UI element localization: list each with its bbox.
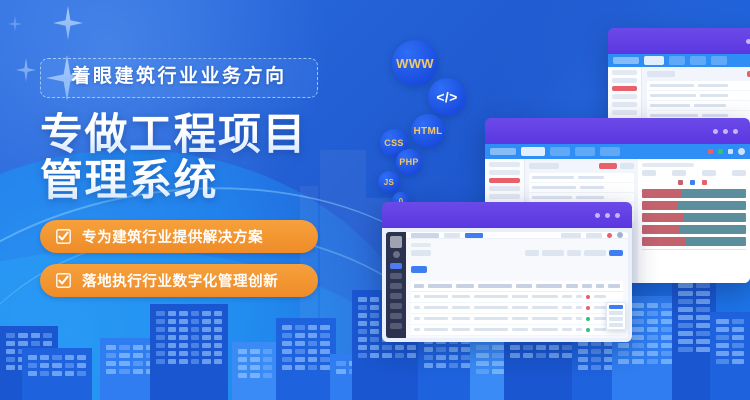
table-row[interactable] <box>411 325 623 336</box>
building-window-grid <box>710 312 750 400</box>
sidebar-item[interactable] <box>612 110 637 115</box>
building-window <box>661 303 672 308</box>
building-window <box>461 347 470 352</box>
building-window <box>156 335 165 340</box>
building-window <box>632 351 643 356</box>
topbar-tab[interactable] <box>669 56 685 65</box>
building-window <box>476 345 489 350</box>
building-window <box>678 283 693 288</box>
sidebar-item-active[interactable] <box>612 86 637 91</box>
building-window <box>578 349 588 354</box>
legend-item <box>678 180 685 185</box>
filter-chip[interactable] <box>542 250 564 256</box>
building-window <box>156 311 165 316</box>
app-logo-icon <box>613 57 639 64</box>
building-window <box>382 345 391 350</box>
building-window <box>716 327 729 332</box>
building-window <box>156 359 165 364</box>
building-window <box>661 359 672 364</box>
building-window <box>591 349 601 354</box>
building-window <box>358 337 367 342</box>
table-row[interactable] <box>647 101 750 111</box>
building-window <box>678 291 693 296</box>
breadcrumb <box>411 233 439 238</box>
building-window <box>6 357 15 362</box>
building-window <box>263 349 272 354</box>
filter-chip[interactable] <box>529 163 559 169</box>
building-window <box>133 369 143 374</box>
building-window <box>31 341 40 346</box>
chart-bar <box>642 201 747 210</box>
building-window <box>40 371 49 376</box>
chart-legend <box>642 180 747 185</box>
window-dot-icon <box>605 213 610 218</box>
building-window <box>308 333 318 338</box>
building-window <box>295 349 305 354</box>
legend-item <box>690 180 697 185</box>
table-row[interactable] <box>529 183 634 193</box>
sidebar-item[interactable] <box>390 273 402 279</box>
www-bubble: WWW <box>392 40 438 86</box>
building-window <box>202 327 211 332</box>
building-window <box>320 365 330 370</box>
checkbox-check-icon <box>56 229 71 244</box>
feature-pill-2[interactable]: 落地执行行业数字化管理创新 <box>40 264 318 297</box>
building-window <box>618 343 629 348</box>
building-window <box>106 345 116 350</box>
building-window <box>424 363 433 368</box>
feature-pill-1[interactable]: 专为建筑行业提供解决方案 <box>40 220 318 253</box>
building-window <box>77 371 86 376</box>
building-window <box>647 319 658 324</box>
secondary-action-button[interactable] <box>620 163 634 169</box>
www-bubble-label: WWW <box>396 56 434 71</box>
building-window <box>65 355 74 360</box>
sidebar-item[interactable] <box>390 283 402 289</box>
window-titlebar <box>485 118 750 144</box>
building-window <box>510 353 520 358</box>
stacked-bar-chart <box>642 189 747 250</box>
building-window <box>77 363 86 368</box>
page-subtitle <box>411 243 431 247</box>
window-dot-icon <box>723 129 728 134</box>
building-window <box>191 343 200 348</box>
building-window <box>168 351 177 356</box>
building-window <box>358 345 367 350</box>
status-badge <box>586 328 590 332</box>
app-topbar <box>608 54 750 67</box>
building-window <box>168 319 177 324</box>
building-window <box>282 349 292 354</box>
sidebar-item[interactable] <box>390 303 402 309</box>
nav-tab[interactable] <box>586 233 602 238</box>
building-window <box>238 373 247 378</box>
building-window <box>370 345 379 350</box>
building-window <box>358 305 367 310</box>
building-window <box>449 355 458 360</box>
filter-row <box>647 71 750 77</box>
feature-pill-label: 落地执行行业数字化管理创新 <box>82 270 278 291</box>
html-bubble: HTML <box>411 114 445 148</box>
window-titlebar <box>382 202 632 228</box>
building-window <box>320 325 330 330</box>
building-window <box>77 355 86 360</box>
building-window <box>179 351 188 356</box>
window-dot-icon <box>595 213 600 218</box>
building-window <box>661 319 672 324</box>
building-window <box>632 359 643 364</box>
stat-chip <box>642 170 656 176</box>
app-sidebar-dark <box>386 232 406 338</box>
building-window <box>214 351 223 356</box>
building-window <box>678 339 693 344</box>
filter-chip[interactable] <box>567 250 581 256</box>
building-window <box>492 369 505 374</box>
building-window <box>436 355 445 360</box>
building-window <box>395 345 404 350</box>
building-window <box>358 353 367 358</box>
building-window <box>179 343 188 348</box>
building-window <box>119 345 129 350</box>
building-window <box>156 343 165 348</box>
building-window <box>578 365 588 370</box>
building-window <box>202 335 211 340</box>
building-window <box>320 341 330 346</box>
table-row[interactable] <box>647 91 750 101</box>
building-window <box>476 361 489 366</box>
building-window <box>295 325 305 330</box>
building-window <box>436 363 445 368</box>
topbar-tab[interactable] <box>644 56 664 65</box>
building-window <box>370 305 379 310</box>
headline-block: 着眼建筑行业业务方向 专做工程项目 管理系统 专为建筑行业提供解决方案 <box>40 58 340 297</box>
building-window <box>263 373 272 378</box>
add-button[interactable] <box>411 266 427 273</box>
app-stage <box>386 232 628 338</box>
notification-icon[interactable] <box>708 149 713 154</box>
building-window <box>156 351 165 356</box>
chart-axis <box>642 249 747 250</box>
building-window <box>562 345 572 350</box>
building-window <box>476 369 489 374</box>
sidebar-item[interactable] <box>612 70 637 75</box>
avatar[interactable] <box>617 232 623 238</box>
building-window <box>358 329 367 334</box>
php-bubble-label: PHP <box>399 157 418 167</box>
building-window <box>696 283 711 288</box>
sidebar-item[interactable] <box>390 323 402 329</box>
building-window <box>591 365 601 370</box>
checkbox-check-icon <box>56 273 71 288</box>
building-window <box>358 297 367 302</box>
code-bubble-label: </> <box>436 89 457 105</box>
building-window <box>661 311 672 316</box>
building-window <box>696 315 711 320</box>
building-window <box>716 359 729 364</box>
search-button[interactable] <box>609 250 623 256</box>
window-body <box>382 228 632 342</box>
building-window <box>156 319 165 324</box>
building-window <box>732 343 745 348</box>
chart-bar <box>642 237 747 246</box>
building-window <box>191 335 200 340</box>
building-window <box>661 327 672 332</box>
building-window <box>295 365 305 370</box>
table-row[interactable] <box>411 303 623 314</box>
building-window <box>407 345 416 350</box>
building-window <box>696 307 711 312</box>
building-window <box>732 335 745 340</box>
building-window <box>238 357 247 362</box>
building-window <box>732 319 745 324</box>
sidebar-item-active[interactable] <box>390 263 402 269</box>
filter-row <box>411 250 623 256</box>
building-window <box>549 353 559 358</box>
building <box>232 342 278 400</box>
context-menu-item[interactable] <box>609 305 623 309</box>
building-window <box>295 333 305 338</box>
building-window <box>370 329 379 334</box>
building-window <box>28 355 37 360</box>
building-window <box>308 341 318 346</box>
building <box>710 312 750 400</box>
building-window <box>336 369 346 374</box>
building-window <box>370 337 379 342</box>
app-logo-icon <box>390 236 402 248</box>
building-window <box>295 357 305 362</box>
building-window <box>18 333 27 338</box>
table-header <box>411 281 623 292</box>
filter-row <box>529 163 634 169</box>
building-window <box>647 359 658 364</box>
building-window <box>632 327 643 332</box>
feature-pill-list: 专为建筑行业提供解决方案 落地执行行业数字化管理创新 <box>40 220 340 297</box>
building-window <box>6 349 15 354</box>
building-window <box>119 369 129 374</box>
building-window <box>678 307 693 312</box>
building-window <box>282 325 292 330</box>
data-table <box>411 281 623 336</box>
building-window-grid <box>150 304 228 400</box>
building-window <box>28 363 37 368</box>
building-window <box>320 333 330 338</box>
building-window <box>632 311 643 316</box>
topbar-tab[interactable] <box>690 56 706 65</box>
php-bubble: PHP <box>396 149 422 175</box>
topbar-tab[interactable] <box>575 147 595 156</box>
sparkle-icon-1 <box>53 6 83 40</box>
context-menu-item[interactable] <box>609 317 623 321</box>
building-window <box>202 351 211 356</box>
building-window <box>716 335 729 340</box>
building-window <box>119 353 129 358</box>
building-window-grid <box>22 348 92 400</box>
context-menu[interactable] <box>606 302 626 330</box>
building-window <box>461 363 470 368</box>
window-dot-icon <box>615 213 620 218</box>
status-badge <box>586 317 590 321</box>
building-window <box>52 355 61 360</box>
building-window <box>179 311 188 316</box>
js-bubble: JS <box>378 171 400 193</box>
building-window <box>168 327 177 332</box>
building-window <box>18 341 27 346</box>
building-window <box>282 333 292 338</box>
panel-title <box>642 163 694 167</box>
tech-bubble-cluster: WWW </> HTML CSS PHP JS 0 <box>378 36 508 216</box>
building-window <box>647 311 658 316</box>
building-window <box>370 297 379 302</box>
building-window <box>65 371 74 376</box>
eyebrow-badge: 着眼建筑行业业务方向 <box>40 58 318 98</box>
settings-icon[interactable] <box>728 149 733 154</box>
primary-action-button[interactable] <box>599 163 617 169</box>
sidebar-item[interactable] <box>612 78 637 83</box>
code-bubble: </> <box>428 78 466 116</box>
building-window <box>407 353 416 358</box>
promo-banner: 着眼建筑行业业务方向 专做工程项目 管理系统 专为建筑行业提供解决方案 <box>0 0 750 400</box>
building-window <box>52 363 61 368</box>
building-window <box>179 319 188 324</box>
building-window <box>168 335 177 340</box>
sparkle-icon-3 <box>16 58 36 82</box>
nav-tab[interactable] <box>561 233 581 238</box>
building-window <box>156 327 165 332</box>
table-row[interactable] <box>647 81 750 91</box>
building-window <box>678 331 693 336</box>
sidebar-item[interactable] <box>612 102 637 107</box>
collapse-icon[interactable] <box>393 251 400 258</box>
js-bubble-label: JS <box>384 178 394 187</box>
building-window <box>696 291 711 296</box>
building-window-grid <box>276 318 336 400</box>
feature-pill-label: 专为建筑行业提供解决方案 <box>82 226 263 247</box>
dashboard-window-front[interactable] <box>382 202 632 342</box>
building-window <box>647 335 658 340</box>
building-window <box>536 345 546 350</box>
building-window <box>65 363 74 368</box>
window-dot-icon <box>733 129 738 134</box>
sidebar-item[interactable] <box>390 313 402 319</box>
building-window <box>549 345 559 350</box>
avatar[interactable] <box>738 148 745 155</box>
filter-chip[interactable] <box>411 250 431 256</box>
topbar-tab[interactable] <box>521 147 545 156</box>
building-window <box>696 323 711 328</box>
status-badge <box>586 295 590 299</box>
building-window <box>250 357 259 362</box>
building-window <box>106 369 116 374</box>
building-window <box>461 355 470 360</box>
nav-tab-active[interactable] <box>465 233 483 238</box>
table-row[interactable] <box>529 173 634 183</box>
building-window <box>214 327 223 332</box>
building-window <box>320 357 330 362</box>
building-window <box>308 349 318 354</box>
building-window <box>308 357 318 362</box>
context-menu-item[interactable] <box>609 311 623 315</box>
building-window <box>358 313 367 318</box>
building-window <box>133 345 143 350</box>
building-window <box>436 347 445 352</box>
window-dot-icon <box>746 39 750 44</box>
building-window <box>578 357 588 362</box>
table-row[interactable] <box>411 292 623 303</box>
sidebar-item[interactable] <box>612 94 637 99</box>
topbar-tab[interactable] <box>550 147 570 156</box>
building-window <box>424 347 433 352</box>
message-icon[interactable] <box>718 149 723 154</box>
building-window <box>250 349 259 354</box>
building-window <box>238 349 247 354</box>
building-window <box>295 341 305 346</box>
eyebrow-text: 着眼建筑行业业务方向 <box>57 67 301 88</box>
building-window <box>214 335 223 340</box>
building-window <box>476 353 489 358</box>
topbar-tab[interactable] <box>600 147 620 156</box>
context-menu-item[interactable] <box>609 323 623 327</box>
table-row[interactable] <box>411 314 623 325</box>
stat-chip <box>702 170 716 176</box>
building-window <box>647 343 658 348</box>
sidebar-item[interactable] <box>390 293 402 299</box>
building-window <box>28 371 37 376</box>
window-dot-icon <box>713 129 718 134</box>
filter-chip[interactable] <box>525 250 539 256</box>
building-window <box>510 345 520 350</box>
topbar-tab[interactable] <box>711 56 727 65</box>
building-window <box>40 363 49 368</box>
building-window <box>179 359 188 364</box>
building-window <box>168 311 177 316</box>
building-window <box>492 353 505 358</box>
notification-icon[interactable] <box>607 233 612 238</box>
building-window <box>696 347 711 352</box>
stat-chip <box>732 170 746 176</box>
building-window <box>202 311 211 316</box>
building-window <box>661 351 672 356</box>
app-topbar <box>485 144 750 159</box>
headline-line-1: 专做工程项目 <box>40 112 340 158</box>
building-window <box>661 335 672 340</box>
building-window <box>424 355 433 360</box>
building-window <box>191 311 200 316</box>
building-window <box>370 313 379 318</box>
nav-tab[interactable] <box>444 233 460 238</box>
building-window <box>732 327 745 332</box>
building-window <box>202 359 211 364</box>
chart-bar <box>642 225 747 234</box>
filter-chip[interactable] <box>647 71 675 77</box>
building-window <box>202 343 211 348</box>
building-window <box>6 333 15 338</box>
building-window <box>320 349 330 354</box>
building-window <box>523 345 533 350</box>
building-window <box>263 357 272 362</box>
building-window <box>632 343 643 348</box>
building-window <box>214 319 223 324</box>
building <box>22 348 92 400</box>
building-window <box>191 327 200 332</box>
building-window <box>168 343 177 348</box>
building-window <box>133 353 143 358</box>
building-window <box>282 365 292 370</box>
building-window <box>449 363 458 368</box>
filter-chip[interactable] <box>584 250 606 256</box>
building-window <box>492 361 505 366</box>
building-window <box>40 355 49 360</box>
building-window <box>43 333 52 338</box>
